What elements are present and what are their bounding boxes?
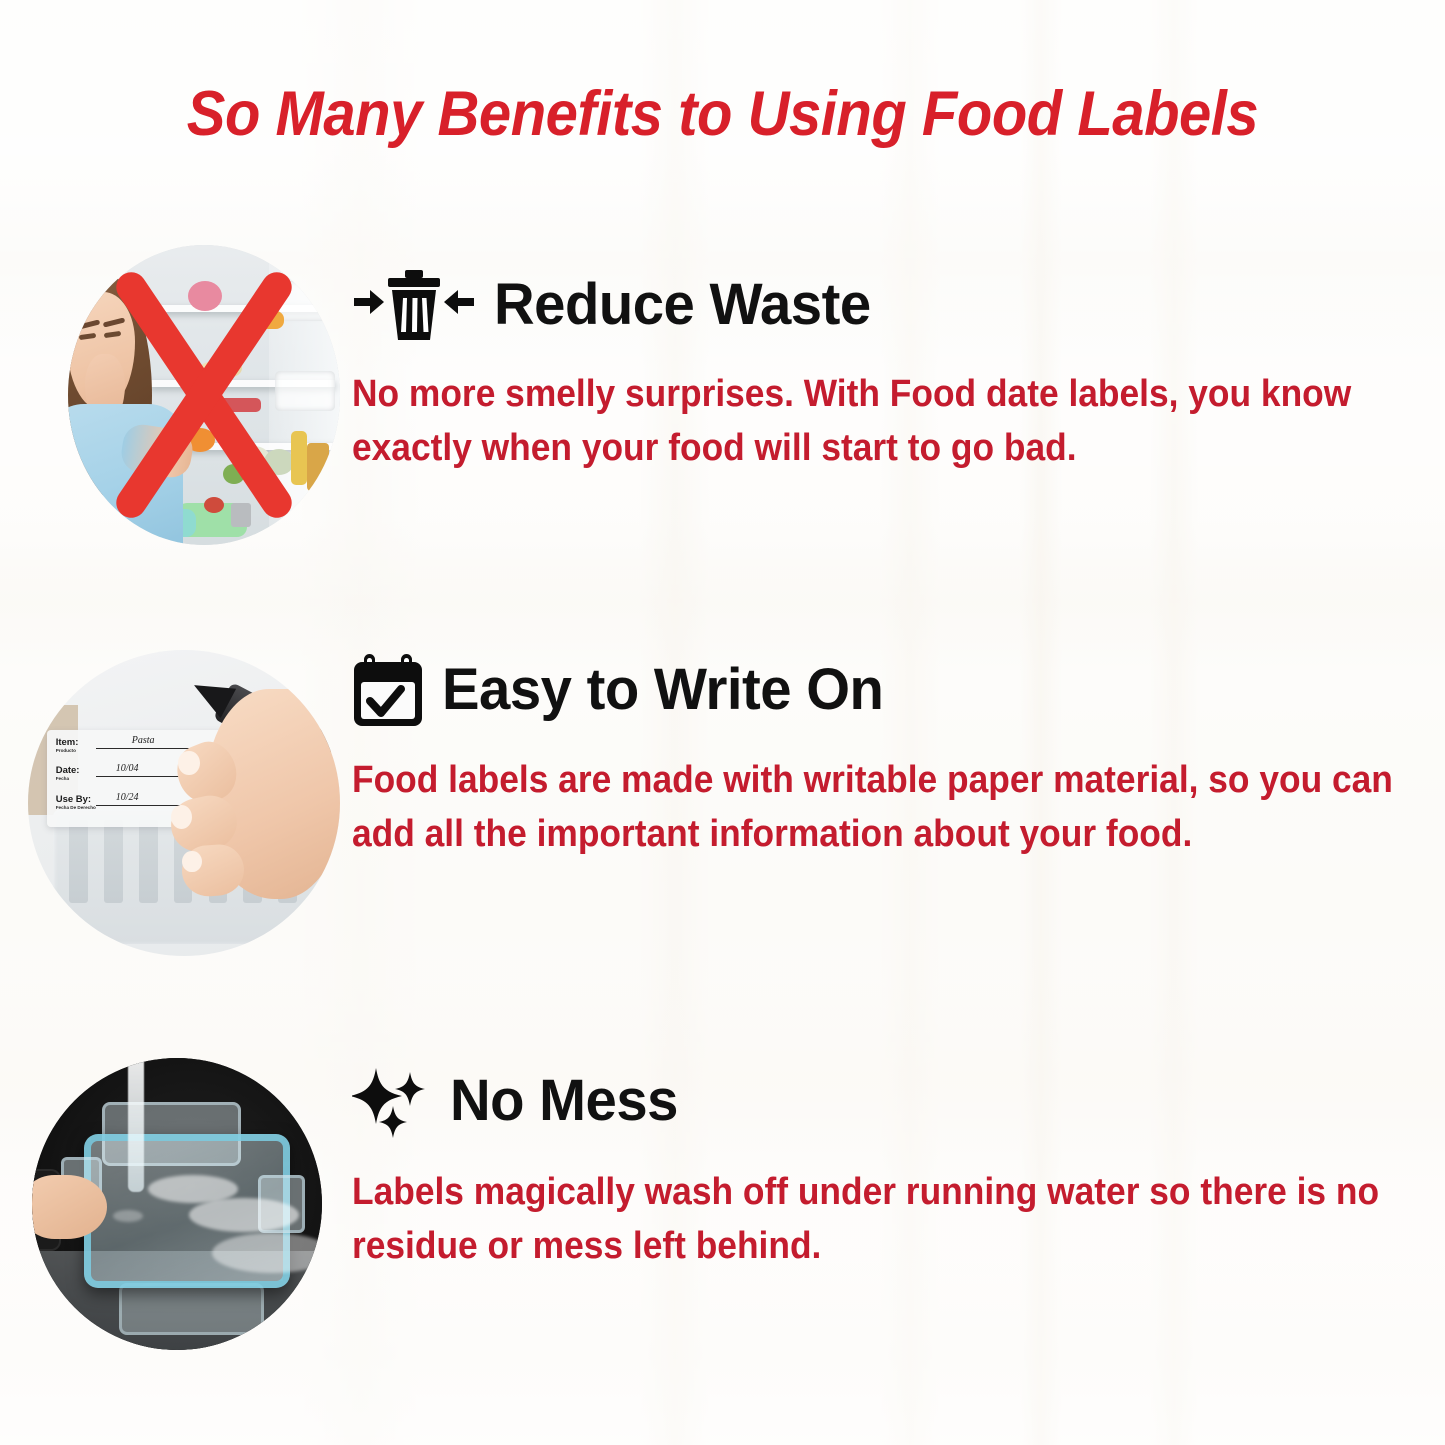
benefit-body: No more smelly surprises. With Food date… (352, 368, 1445, 476)
benefit-heading: No Mess (450, 1072, 678, 1130)
benefit-photo-no-mess (32, 1058, 322, 1350)
benefit-heading-row: Easy to Write On (352, 652, 1412, 728)
water-stream (128, 1058, 144, 1192)
label-key: Date: (56, 765, 80, 776)
rack-tine (139, 820, 158, 903)
label-subkey: Producto (56, 748, 76, 753)
label-value: 10/24 (116, 792, 139, 803)
tertiary-lid (119, 1283, 264, 1336)
label-subkey: Fecha De Derecho (56, 805, 96, 810)
benefit-photo-easy-to-write-on: Item: Producto Pasta Date: Fecha 10/04 U… (28, 650, 340, 956)
water-splash (189, 1198, 299, 1232)
water-droplet (113, 1210, 143, 1222)
benefit-text-easy-to-write-on: Easy to Write On Food labels are made wi… (352, 652, 1412, 862)
benefit-body: Food labels are made with writable paper… (352, 754, 1445, 862)
label-key: Item: (56, 737, 79, 748)
benefit-body: Labels magically wash off under running … (352, 1166, 1445, 1274)
benefit-text-reduce-waste: Reduce Waste No more smelly surprises. W… (352, 268, 1412, 476)
label-value: 10/04 (116, 763, 139, 774)
benefit-text-no-mess: No Mess Labels magically wash off under … (352, 1062, 1412, 1274)
calendar-check-icon (352, 652, 424, 728)
fingernail (182, 851, 201, 873)
label-subkey: Fecha (56, 776, 69, 781)
benefit-heading: Easy to Write On (442, 661, 883, 719)
label-value: Pasta (132, 735, 155, 746)
benefit-heading-row: Reduce Waste (352, 268, 1412, 342)
trash-can-reduce-icon (352, 268, 476, 342)
rack-tine (104, 820, 123, 903)
writing-hand (159, 662, 340, 931)
benefit-heading-row: No Mess (352, 1062, 1412, 1140)
label-key: Use By: (56, 794, 91, 805)
benefit-photo-reduce-waste (68, 245, 340, 545)
fingernail (171, 805, 192, 829)
benefits-infographic: So Many Benefits to Using Food Labels (0, 0, 1445, 1445)
fingernail (178, 751, 199, 775)
benefit-heading: Reduce Waste (494, 276, 871, 334)
sparkles-icon (352, 1062, 432, 1140)
red-x-overlay (68, 245, 340, 545)
page-title: So Many Benefits to Using Food Labels (58, 78, 1387, 150)
rack-tine (69, 820, 88, 903)
